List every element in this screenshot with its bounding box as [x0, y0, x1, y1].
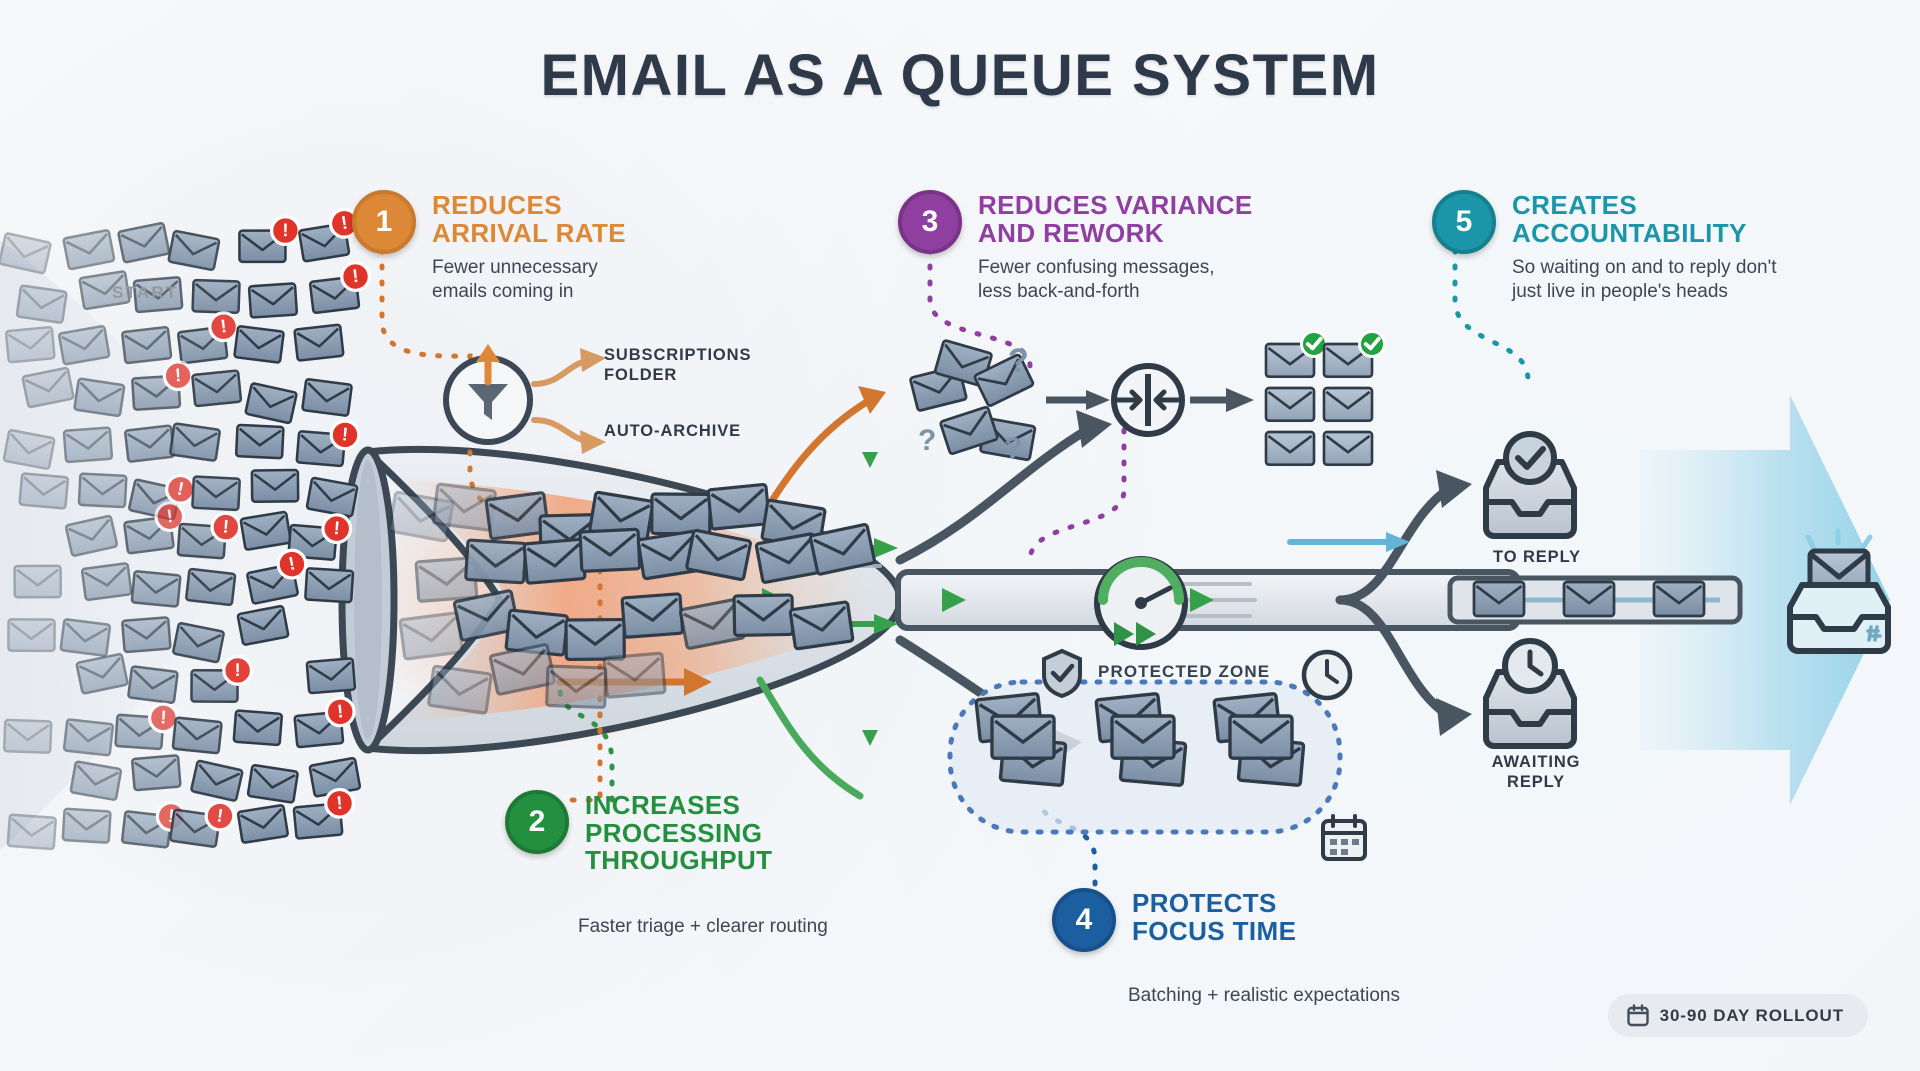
envelope-icon: ! [176, 311, 241, 363]
protected-zone-group [940, 660, 1360, 850]
infographic-canvas: EMAIL AS A QUEUE SYSTEM [0, 0, 1920, 1071]
speedometer-fast-forward-icon [1086, 548, 1196, 658]
envelope-icon [170, 423, 220, 461]
envelope-icon [0, 233, 51, 274]
protected-zone-label: PROTECTED ZONE [1098, 662, 1270, 682]
envelope-icon [1266, 388, 1314, 421]
envelope-icon: ! [131, 361, 193, 410]
envelope-icon [125, 425, 174, 461]
callout-3-subtitle: Fewer confusing messages, less back-and-… [978, 256, 1253, 304]
envelope-icon [76, 654, 127, 694]
envelope-icon [1564, 582, 1614, 616]
inbox-check-icon [1470, 440, 1590, 550]
callout-4-protects-focus-time[interactable]: 4 PROTECTS FOCUS TIME [1052, 888, 1452, 952]
envelope-icon [61, 619, 111, 656]
envelope-icon [622, 594, 683, 638]
envelope-icon [234, 710, 282, 745]
envelope-icon [8, 619, 54, 650]
envelope-icon [1324, 388, 1372, 421]
svg-text:!: ! [235, 659, 241, 680]
callout-5-heading: CREATES ACCOUNTABILITY [1512, 192, 1777, 247]
question-mark-icon: ? [1008, 342, 1029, 380]
callout-1-reduces-arrival-rate[interactable]: 1 REDUCES ARRIVAL RATE Fewer unnecessary… [352, 190, 682, 304]
callout-5-number: 5 [1432, 190, 1496, 254]
envelope-icon [604, 653, 665, 697]
envelope-icon [79, 474, 127, 508]
envelope-icon [8, 815, 56, 849]
envelope-icon [15, 566, 61, 597]
envelope-icon [4, 720, 51, 753]
inbox-sparkle-icon [1780, 535, 1900, 665]
envelope-icon [4, 430, 55, 469]
envelope-icon [236, 425, 283, 458]
callout-1-subtitle: Fewer unnecessary emails coming in [432, 256, 626, 304]
envelope-icon: ! [178, 510, 241, 559]
envelope-icon [241, 512, 291, 550]
envelope-icon [1654, 582, 1704, 616]
outcome-awaiting-reply-label: AWAITING REPLY [1466, 752, 1606, 792]
envelope-icon [652, 494, 710, 534]
callout-4-heading: PROTECTS FOCUS TIME [1132, 890, 1296, 945]
envelope-icon [122, 327, 171, 363]
inbox-clock-icon [1470, 650, 1590, 760]
callout-3-reduces-variance-and-rework[interactable]: 3 REDUCES VARIANCE AND REWORK Fewer conf… [898, 190, 1288, 304]
envelope-icon [249, 283, 297, 317]
rollout-badge[interactable]: 30-90 DAY ROLLOUT [1608, 994, 1868, 1037]
envelope-icon [74, 378, 124, 416]
envelope-icon [708, 484, 770, 529]
final-lane-envelopes [1460, 572, 1750, 630]
envelope-icon [1324, 432, 1372, 465]
envelope-icon [71, 761, 122, 800]
callout-3-number: 3 [898, 190, 962, 254]
callout-2-heading: INCREASES PROCESSING THROUGHPUT [585, 792, 772, 875]
callout-4-number: 4 [1052, 888, 1116, 952]
envelope-icon [734, 595, 793, 635]
envelope-icon [1112, 716, 1174, 758]
envelope-icon [63, 809, 111, 843]
envelope-icon [132, 755, 180, 790]
envelope-icon [566, 620, 624, 660]
envelope-icon [1266, 432, 1314, 465]
callout-1-heading: REDUCES ARRIVAL RATE [432, 192, 626, 247]
envelope-icon [466, 540, 526, 583]
envelope-icon [547, 666, 606, 707]
envelope-icon [245, 383, 297, 423]
filter-branch-auto-archive-label: AUTO-ARCHIVE [604, 422, 741, 442]
envelope-icon [192, 370, 241, 406]
clock-icon [1300, 648, 1354, 702]
envelope-icon [294, 325, 343, 361]
envelope-icon [63, 230, 114, 270]
funnel-email-cluster [390, 470, 910, 750]
outcome-to-reply-label: TO REPLY [1472, 548, 1602, 568]
envelope-icon [307, 658, 355, 693]
question-mark-icon: ? [1004, 432, 1022, 465]
envelope-icon [66, 516, 118, 557]
envelope-icon [1230, 716, 1292, 758]
shield-check-icon [1040, 648, 1084, 698]
envelope-icon [19, 473, 68, 508]
incoming-email-swarm: !!!!!!!!!!!!!!!!! [0, 230, 400, 890]
envelope-icon [234, 326, 284, 363]
envelope-icon [302, 379, 352, 416]
envelope-icon [305, 568, 353, 602]
envelope-icon [192, 477, 239, 510]
calendar-icon [1318, 812, 1370, 864]
envelope-icon: ! [244, 548, 312, 604]
svg-text:!: ! [282, 219, 288, 240]
envelope-icon [17, 285, 67, 323]
callout-5-subtitle: So waiting on and to reply don't just li… [1512, 256, 1777, 304]
envelope-icon [490, 644, 555, 694]
envelope-icon [580, 529, 640, 571]
callout-5-creates-accountability[interactable]: 5 CREATES ACCOUNTABILITY So waiting on a… [1432, 190, 1852, 304]
start-label: START [112, 283, 178, 303]
envelope-icon: ! [297, 417, 360, 467]
question-mark-icon: ? [918, 424, 936, 457]
envelope-icon [992, 716, 1054, 758]
envelope-icon [193, 280, 240, 313]
envelope-icon [191, 760, 243, 801]
callout-2-subtitle: Faster triage + clearer routing [578, 915, 998, 939]
calendar-icon [1627, 1004, 1649, 1027]
envelope-icon [173, 718, 222, 754]
callout-3-heading: REDUCES VARIANCE AND REWORK [978, 192, 1253, 247]
envelope-icon: ! [115, 701, 178, 750]
filter-branch-subscriptions-label: SUBSCRIPTIONS FOLDER [604, 346, 751, 386]
envelope-icon [22, 368, 73, 408]
envelope-icon [248, 765, 298, 803]
envelope-icon [252, 470, 298, 502]
envelope-icon [122, 617, 170, 652]
envelope-icon [428, 666, 491, 713]
callout-2-increases-processing-throughput[interactable]: 2 INCREASES PROCESSING THROUGHPUT [505, 790, 845, 875]
envelope-icon [524, 539, 585, 583]
envelope-icon [1266, 332, 1326, 377]
envelope-icon [132, 571, 181, 607]
envelope-icon [307, 478, 358, 517]
envelope-icon [1474, 582, 1524, 616]
envelope-icon [173, 623, 224, 663]
envelope-icon [686, 530, 751, 580]
envelope-icon: ! [293, 697, 357, 748]
envelope-icon [790, 602, 853, 649]
callout-4-subtitle: Batching + realistic expectations [1128, 984, 1548, 1008]
envelope-icon [64, 428, 112, 463]
envelope-icon [82, 563, 132, 600]
envelope-icon [59, 326, 110, 365]
envelope-icon [168, 231, 219, 270]
envelope-icon [400, 613, 463, 659]
envelope-icon [6, 327, 55, 362]
callout-1-number: 1 [352, 190, 416, 254]
envelope-icon [237, 606, 288, 645]
envelope-icon: ! [191, 656, 251, 701]
variance-to-order-graphic: ? ? ? [900, 330, 1360, 480]
envelope-icon [64, 719, 113, 755]
envelope-icon [186, 569, 235, 605]
rollout-badge-label: 30-90 DAY ROLLOUT [1660, 1006, 1844, 1026]
envelope-icon [238, 805, 288, 843]
svg-text:!: ! [174, 364, 181, 385]
envelope-icon [128, 666, 178, 703]
callout-2-number: 2 [505, 790, 569, 854]
